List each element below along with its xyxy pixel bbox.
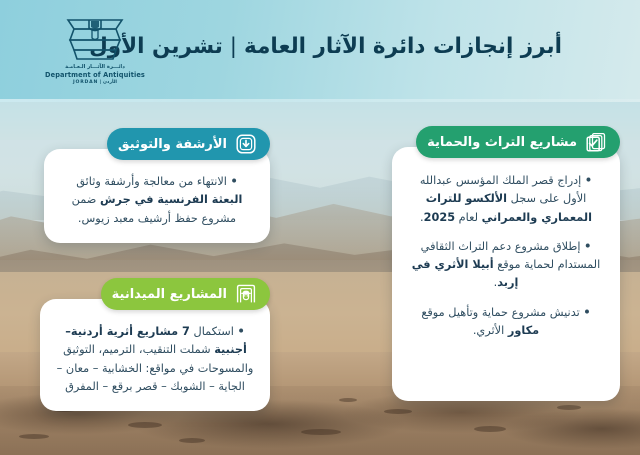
logo-english-text: Department of Antiquities xyxy=(42,71,148,79)
department-of-antiquities-logo: دائـــرة الآثـــار الـعـامـة Department … xyxy=(42,16,148,92)
title-separator: | xyxy=(223,34,244,59)
bullet-item: • الانتهاء من معالجة وأرشفة وثائق البعثة… xyxy=(60,173,254,228)
bullet-text: الانتهاء من معالجة وأرشفة وثائق البعثة ا… xyxy=(72,175,243,225)
bullet-item: • إطلاق مشروع دعم التراث الثقافي المستدا… xyxy=(408,238,604,293)
infographic-poster: أبرز إنجازات دائرة الآثار العامة|تشرين ا… xyxy=(0,0,640,455)
header-bar: أبرز إنجازات دائرة الآثار العامة|تشرين ا… xyxy=(0,0,640,102)
bullet-marker: • xyxy=(584,240,591,253)
archive-download-icon xyxy=(235,133,257,155)
card-archive-documentation: الأرشفة والتوثيق • الانتهاء من معالجة وأ… xyxy=(44,128,270,243)
logo-arabic-text: دائـــرة الآثـــار الـعـامـة xyxy=(42,64,148,70)
card-archive-tab[interactable]: الأرشفة والتوثيق xyxy=(107,128,270,160)
bullet-marker: • xyxy=(583,306,590,319)
page-title-main: أبرز إنجازات دائرة الآثار العامة xyxy=(244,34,562,59)
field-worker-icon xyxy=(235,283,257,305)
bullet-item: • تدنيش مشروع حماية وتأهيل موقع مكاور ال… xyxy=(408,304,604,341)
bullet-text: إدراج قصر الملك المؤسس عبدالله الأول على… xyxy=(420,174,592,224)
card-heritage-title: مشاريع التراث والحماية xyxy=(427,135,577,150)
card-field-projects: المشاريع الميدانية • استكمال 7 مشاريع أث… xyxy=(40,278,270,411)
bullet-item: • إدراج قصر الملك المؤسس عبدالله الأول ع… xyxy=(408,172,604,227)
card-heritage-tab[interactable]: مشاريع التراث والحماية xyxy=(416,126,620,158)
card-heritage-protection: مشاريع التراث والحماية • إدراج قصر الملك… xyxy=(392,126,620,401)
bullet-text: إطلاق مشروع دعم التراث الثقافي المستدام … xyxy=(412,240,601,290)
page-title: أبرز إنجازات دائرة الآثار العامة|تشرين ا… xyxy=(89,34,562,59)
logo-country-text: الأردن | JORDAN xyxy=(42,80,148,85)
header-divider xyxy=(0,99,640,102)
bullet-marker: • xyxy=(238,325,245,338)
bullet-item: • استكمال 7 مشاريع أثرية أردنية–أجنبية ش… xyxy=(56,323,254,396)
bullet-text: تدنيش مشروع حماية وتأهيل موقع مكاور الأث… xyxy=(421,306,579,337)
bullet-text: استكمال 7 مشاريع أثرية أردنية–أجنبية شمل… xyxy=(57,325,254,393)
nabataean-capital-icon xyxy=(42,16,148,66)
bullet-marker: • xyxy=(231,175,238,188)
card-field-body: • استكمال 7 مشاريع أثرية أردنية–أجنبية ش… xyxy=(40,299,270,411)
documents-check-icon xyxy=(585,131,607,153)
card-archive-title: الأرشفة والتوثيق xyxy=(118,137,227,152)
card-archive-body: • الانتهاء من معالجة وأرشفة وثائق البعثة… xyxy=(44,149,270,243)
card-heritage-body: • إدراج قصر الملك المؤسس عبدالله الأول ع… xyxy=(392,147,620,401)
card-field-title: المشاريع الميدانية xyxy=(112,287,227,302)
bullet-marker: • xyxy=(585,174,592,187)
card-field-tab[interactable]: المشاريع الميدانية xyxy=(101,278,270,310)
